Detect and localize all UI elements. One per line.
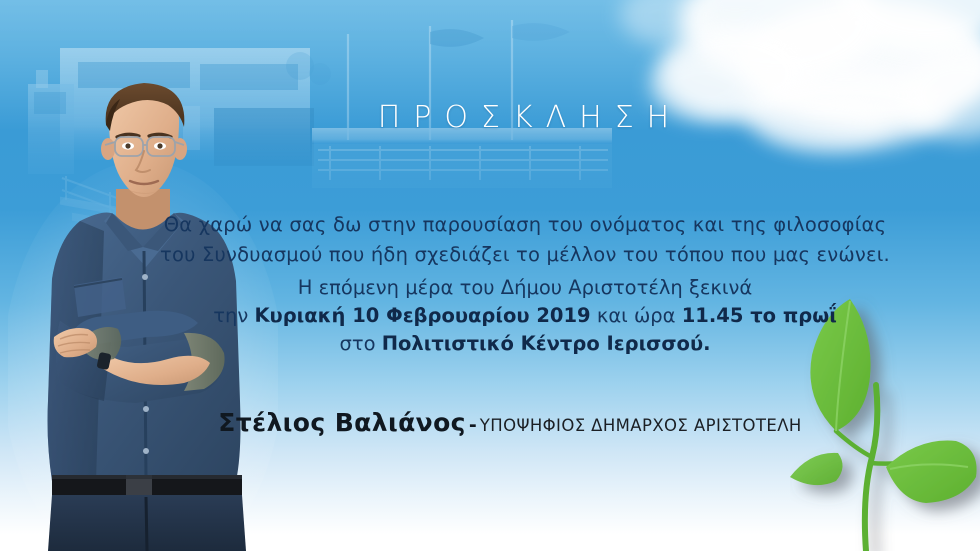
page-title: ΠΡΟΣΚΛΗΣΗ [0, 100, 980, 135]
event-time: 11.45 το πρωΐ [682, 304, 837, 327]
event-line-3: στο Πολιτιστικό Κέντρο Ιερισσού. [70, 330, 980, 358]
event-line-1: Η επόμενη μέρα του Δήμου Αριστοτέλη ξεκι… [70, 274, 980, 302]
event-date: Κυριακή 10 Φεβρουαρίου 2019 [254, 304, 590, 327]
intro-line-1: Θα χαρώ να σας δω στην παρουσίαση του ον… [70, 210, 980, 240]
poster-content: ΠΡΟΣΚΛΗΣΗ Θα χαρώ να σας δω στην παρουσί… [0, 0, 980, 551]
candidate-name: Στέλιος Βαλιάνος [218, 408, 466, 437]
intro-line-2: του Συνδυασμού που ήδη σχεδιάζει το μέλλ… [70, 240, 980, 270]
intro-paragraph: Θα χαρώ να σας δω στην παρουσίαση του ον… [0, 210, 980, 270]
event-details-paragraph: Η επόμενη μέρα του Δήμου Αριστοτέλη ξεκι… [0, 274, 980, 358]
candidate-role: ΥΠΟΨΗΦΙΟΣ ΔΗΜΑΡΧΟΣ ΑΡΙΣΤΟΤΕΛΗ [480, 416, 802, 435]
event-venue-prefix: στο [339, 332, 381, 355]
event-date-prefix: την [213, 304, 254, 327]
event-venue: Πολιτιστικό Κέντρο Ιερισσού. [382, 332, 711, 355]
signature-separator: - [466, 414, 480, 436]
event-line-2: την Κυριακή 10 Φεβρουαρίου 2019 και ώρα … [70, 302, 980, 330]
invitation-poster: ΠΡΟΣΚΛΗΣΗ Θα χαρώ να σας δω στην παρουσί… [0, 0, 980, 551]
event-time-prefix: και ώρα [591, 304, 682, 327]
signature-block: Στέλιος Βαλιάνος-ΥΠΟΨΗΦΙΟΣ ΔΗΜΑΡΧΟΣ ΑΡΙΣ… [0, 408, 980, 437]
